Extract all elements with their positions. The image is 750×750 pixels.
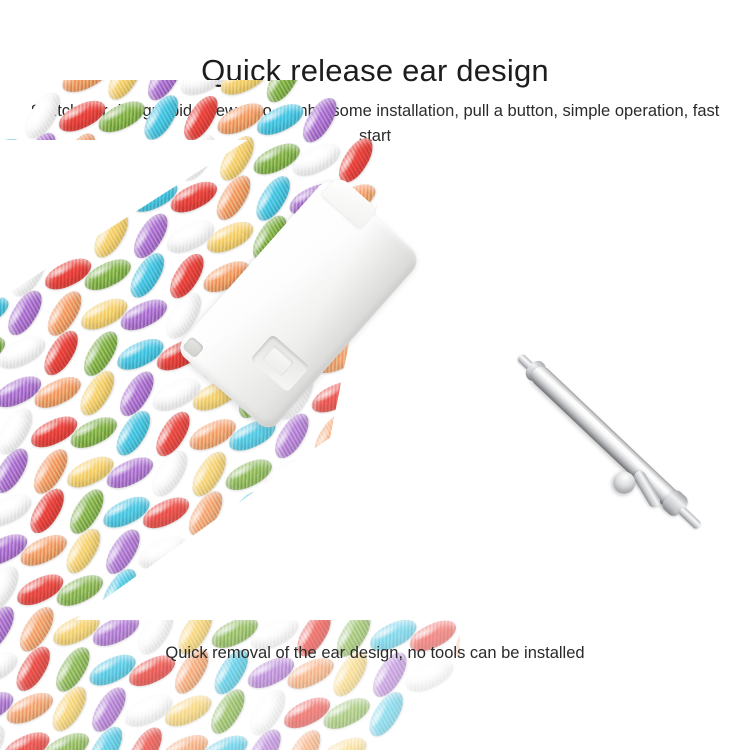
weave-bead — [124, 248, 170, 303]
weave-bead — [60, 524, 106, 579]
weave-bead — [38, 326, 84, 381]
weave-bead — [205, 684, 251, 739]
weave-bead — [0, 245, 12, 300]
weave-bead — [174, 130, 220, 185]
product-detail-page: Quick release ear design Switch ear desi… — [0, 0, 750, 750]
weave-bead — [52, 168, 98, 223]
weave-bead — [102, 80, 148, 105]
weave-bead — [24, 484, 70, 539]
weave-bead — [297, 93, 343, 148]
weave-bead — [216, 80, 271, 101]
weave-bead — [146, 446, 192, 501]
weave-bead — [391, 371, 437, 426]
weave-bead — [122, 722, 168, 750]
weave-bead — [110, 406, 156, 461]
weave-bead — [88, 208, 134, 263]
weave-bead — [46, 682, 92, 737]
product-photo — [0, 140, 750, 620]
spring-bar-pin — [512, 348, 707, 535]
clasp-release-slot-inner — [262, 345, 294, 376]
weave-bead — [210, 170, 256, 225]
photo-caption: Quick removal of the ear design, no tool… — [0, 641, 750, 665]
weave-bead — [453, 570, 460, 625]
weave-bead — [305, 449, 351, 504]
weave-bead — [183, 486, 229, 541]
weave-bead — [74, 366, 120, 421]
weave-bead — [363, 687, 409, 742]
weave-bead — [377, 529, 423, 584]
weave-bead — [96, 564, 142, 619]
weave-bead — [316, 732, 371, 750]
weave-bead — [355, 331, 401, 386]
spring-bar-shaft — [527, 362, 683, 511]
weave-bead — [58, 80, 113, 98]
weave-bead — [157, 729, 212, 750]
weave-bead — [341, 489, 387, 544]
weave-bead — [441, 253, 460, 308]
weave-bead — [416, 496, 460, 539]
weave-bead — [2, 286, 48, 341]
spring-bar-tip-right — [677, 506, 702, 530]
weave-bead — [0, 726, 54, 750]
weave-bead — [219, 526, 265, 581]
weave-bead — [255, 567, 301, 622]
weave-bead — [413, 569, 459, 624]
weave-bead — [261, 80, 307, 107]
weave-bead — [16, 128, 62, 183]
weave-bead — [138, 90, 184, 145]
weave-bead — [281, 725, 327, 750]
weave-bead — [0, 331, 49, 374]
